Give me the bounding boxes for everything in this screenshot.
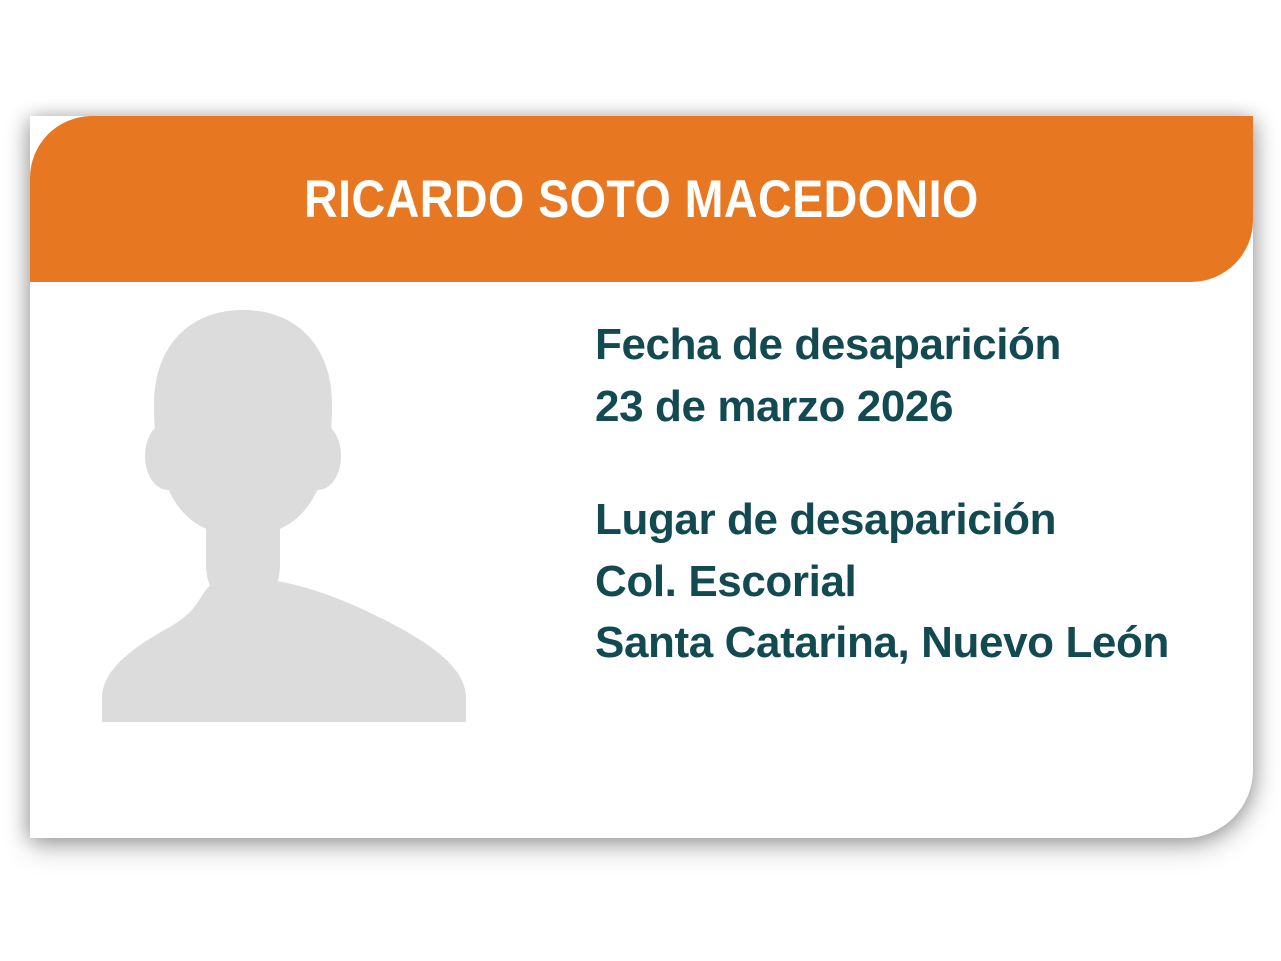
person-silhouette-icon xyxy=(100,302,468,722)
fecha-value: 23 de marzo 2026 xyxy=(595,376,1235,438)
lugar-label: Lugar de desaparición xyxy=(595,489,1235,551)
details-panel: Fecha de desaparición 23 de marzo 2026 L… xyxy=(595,314,1235,674)
lugar-value-municipio-estado: Santa Catarina, Nuevo León xyxy=(595,612,1235,674)
fecha-label: Fecha de desaparición xyxy=(595,314,1235,376)
avatar xyxy=(100,302,468,722)
detail-block-lugar: Lugar de desaparición Col. Escorial Sant… xyxy=(595,489,1235,674)
detail-block-fecha: Fecha de desaparición 23 de marzo 2026 xyxy=(595,314,1235,437)
lugar-value-colonia: Col. Escorial xyxy=(595,551,1235,613)
card-body: Fecha de desaparición 23 de marzo 2026 L… xyxy=(30,282,1253,838)
card-header-banner: RICARDO SOTO MACEDONIO xyxy=(30,116,1253,282)
page-root: RICARDO SOTO MACEDONIO xyxy=(0,0,1281,961)
missing-person-card: RICARDO SOTO MACEDONIO xyxy=(30,116,1253,838)
page-title: RICARDO SOTO MACEDONIO xyxy=(304,173,979,226)
